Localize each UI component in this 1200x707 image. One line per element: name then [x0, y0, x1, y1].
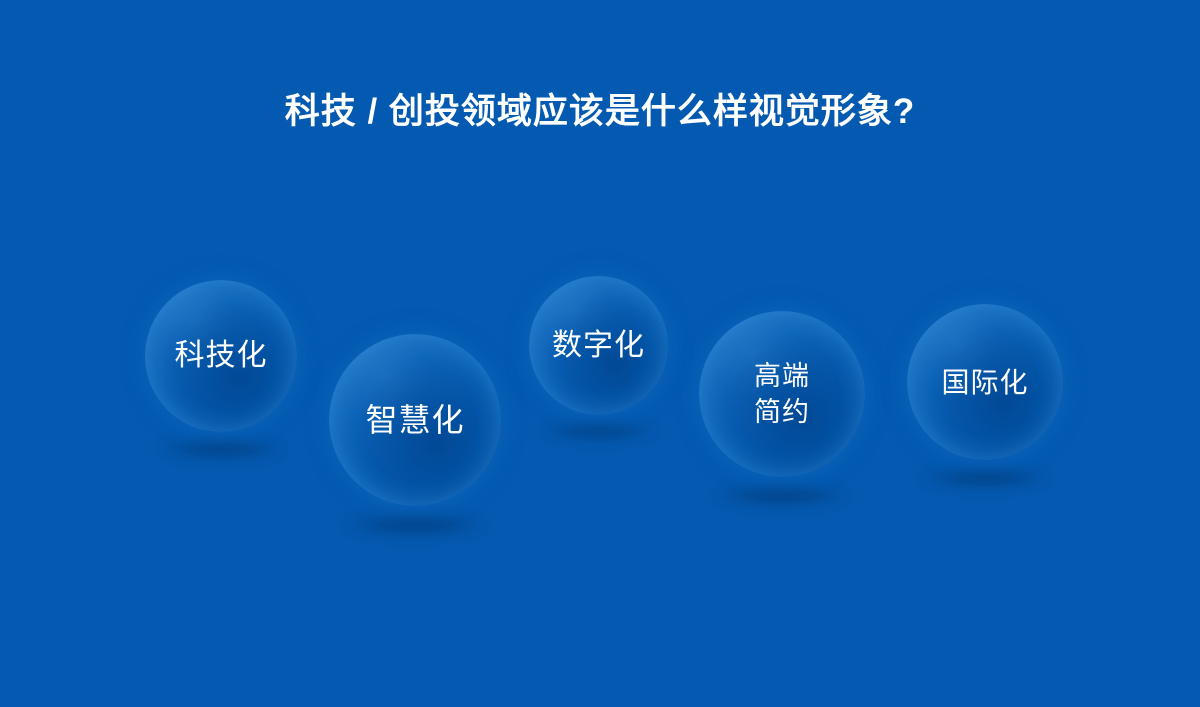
bubble-drop-shadow: [924, 469, 1046, 487]
bubble-drop-shadow: [348, 515, 482, 535]
bubble-label-line: 科技化: [175, 336, 268, 376]
bubble-label: 科技化: [145, 280, 297, 432]
bubble-shuzi[interactable]: 数字化: [529, 276, 668, 415]
bubble-label: 数字化: [529, 276, 668, 415]
bubble-drop-shadow: [162, 440, 281, 457]
bubble-label-line: 简约: [754, 394, 810, 430]
bubble-label-line: 国际化: [941, 364, 1028, 401]
bubble-drop-shadow: [544, 423, 652, 439]
bubble-keji[interactable]: 科技化: [145, 280, 297, 432]
bubble-drop-shadow: [717, 486, 846, 505]
bubble-label-line: 数字化: [552, 326, 645, 366]
bubble-guoji[interactable]: 国际化: [907, 304, 1063, 460]
bubble-label: 高端简约: [699, 311, 865, 477]
bubble-label-line: 高端: [754, 358, 810, 394]
bubble-label-line: 智慧化: [365, 399, 464, 441]
bubble-label: 国际化: [907, 304, 1063, 460]
presentation-slide: 科技 / 创投领域应该是什么样视觉形象? 科技化智慧化数字化高端简约国际化: [0, 0, 1200, 707]
bubble-label: 智慧化: [329, 334, 501, 506]
bubble-diagram: 科技化智慧化数字化高端简约国际化: [0, 0, 1200, 707]
bubble-gaoduan[interactable]: 高端简约: [699, 311, 865, 477]
bubble-zhihui[interactable]: 智慧化: [329, 334, 501, 506]
